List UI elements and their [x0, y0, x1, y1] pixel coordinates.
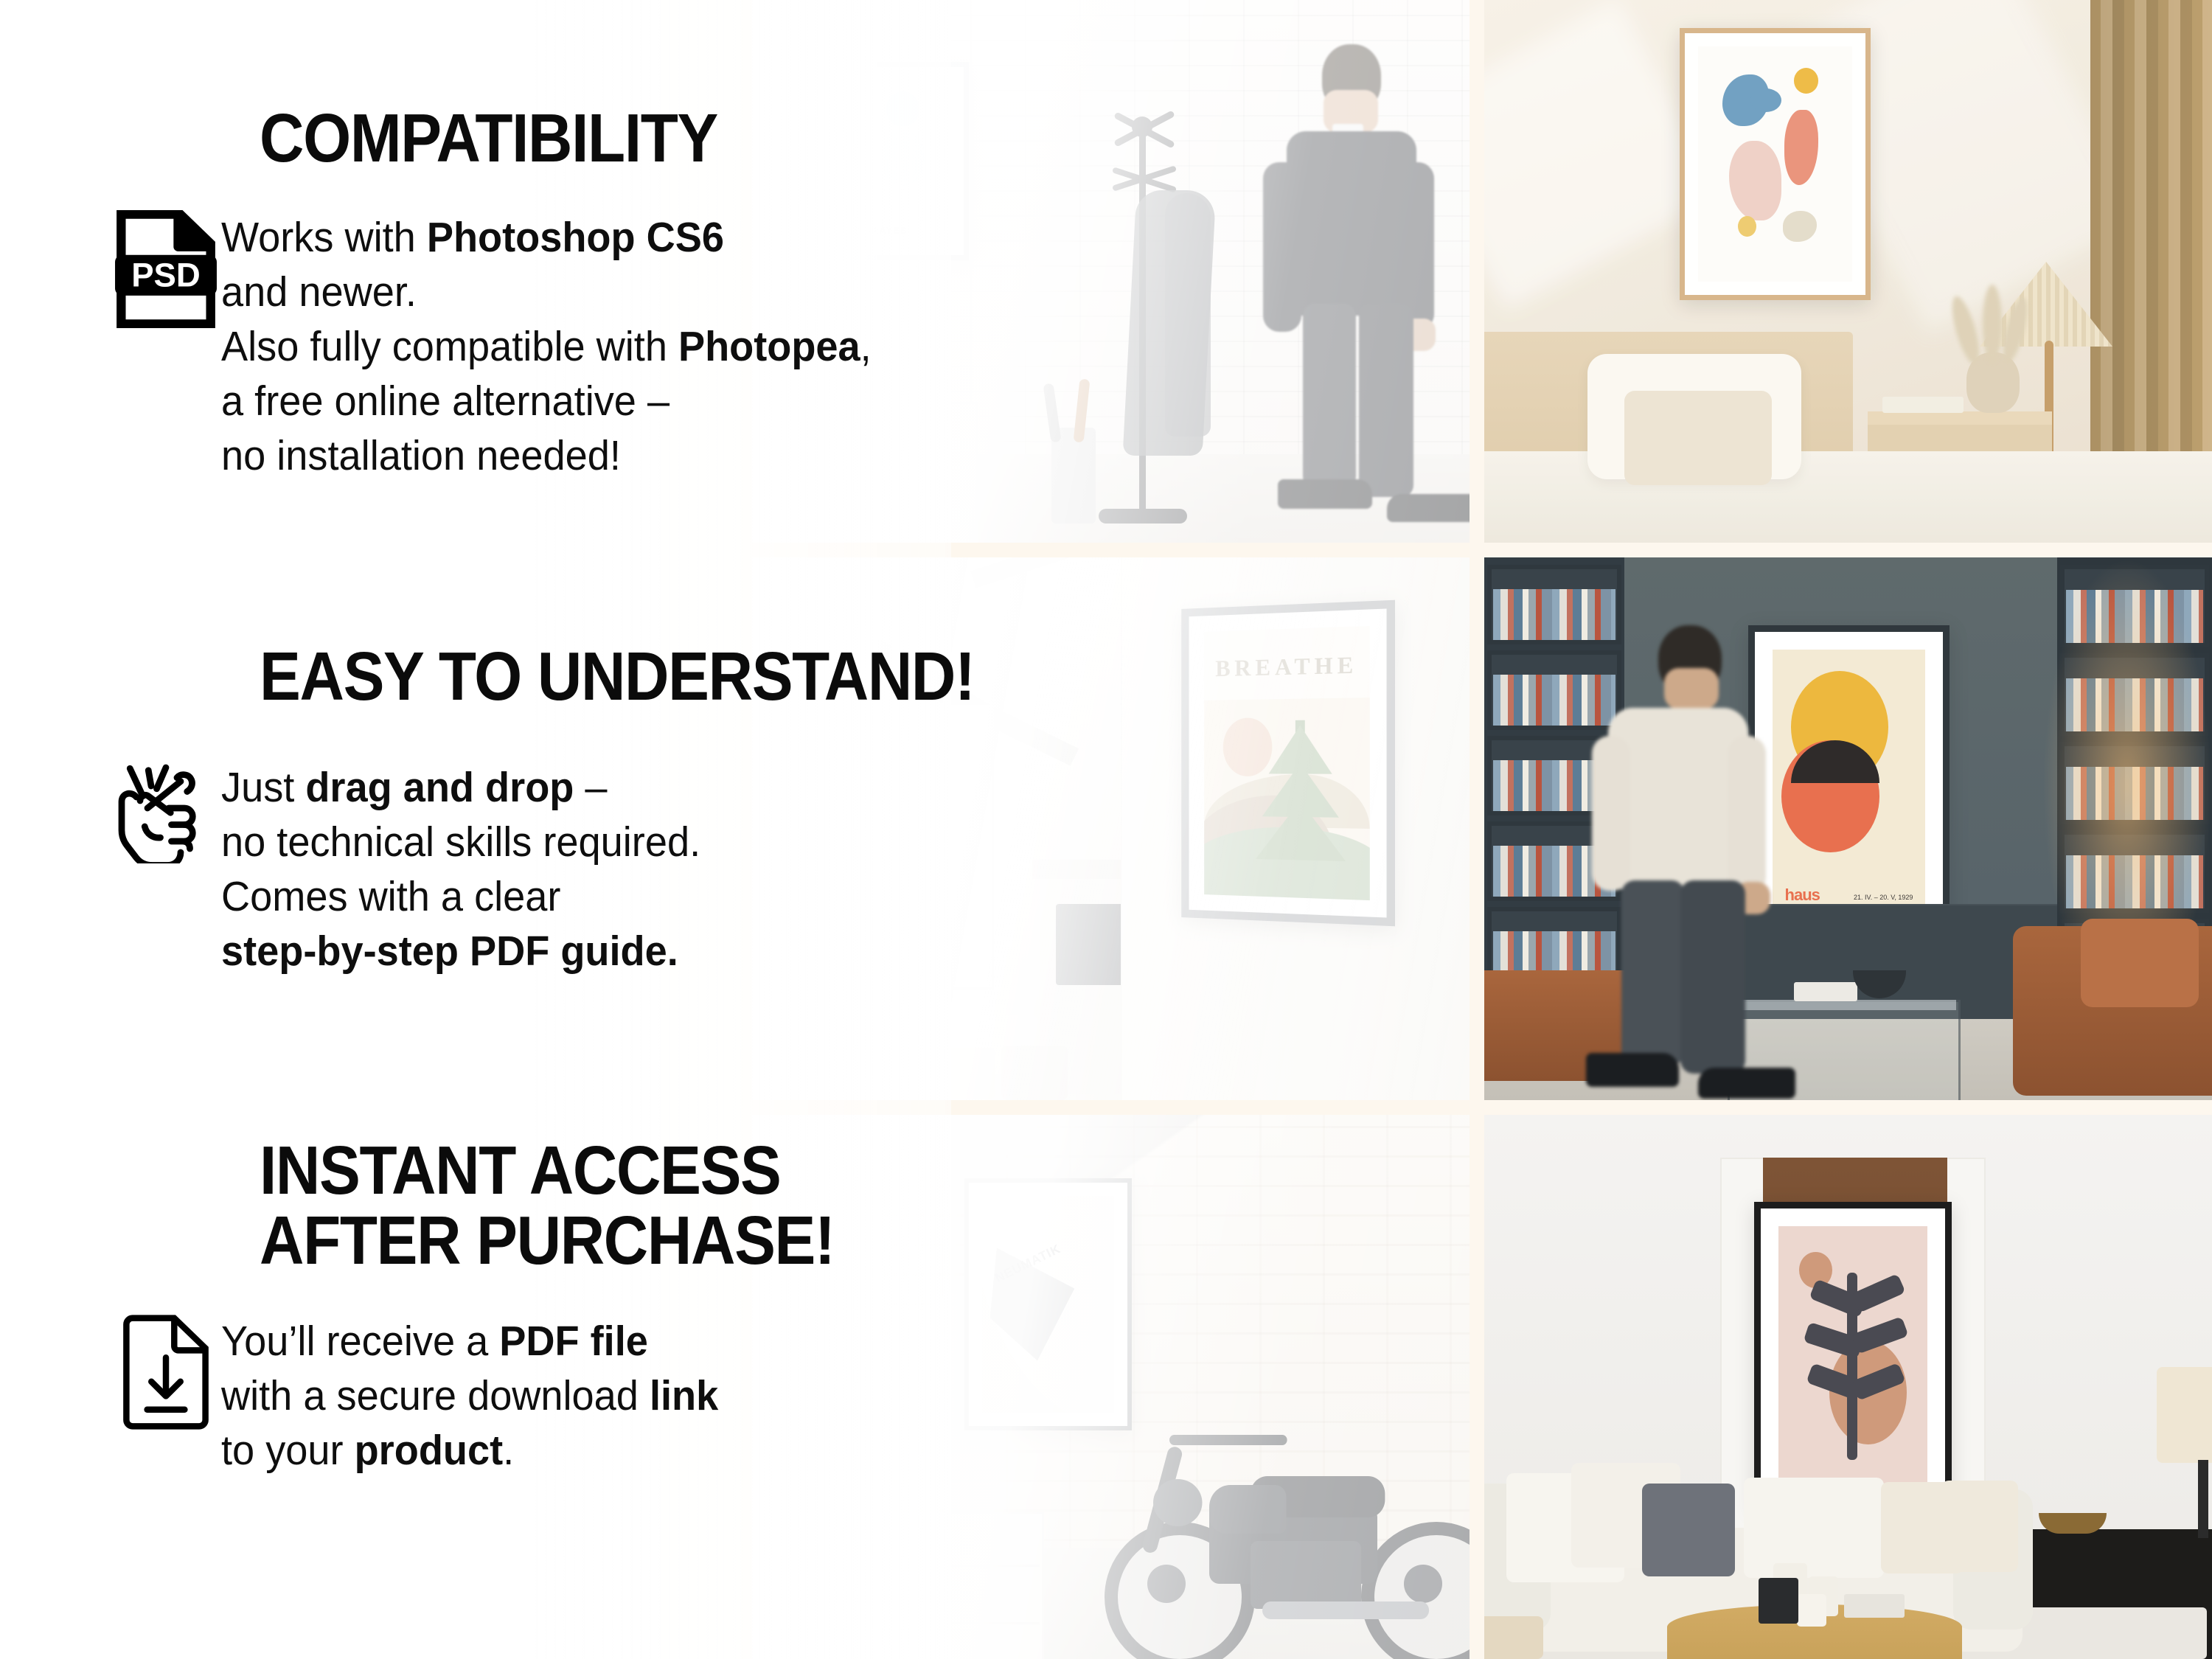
feature-heading-instant-line1: INSTANT ACCESS [260, 1135, 882, 1206]
poster-title-haus: haus [1785, 886, 1820, 905]
download-file-icon [111, 1314, 221, 1430]
mockup-bedroom [1484, 0, 2212, 543]
feature-board: EL-RAYES PARIS [0, 0, 2212, 1659]
person-walking [1587, 625, 1787, 1100]
mockup-library-lounge: haus 21. IV. – 20. V, 1929 [1484, 557, 2212, 1100]
poster-leaf [1754, 1202, 1952, 1510]
mockup-living-room-sofa [1484, 1115, 2212, 1659]
svg-text:PSD: PSD [131, 256, 201, 293]
snapping-fingers-icon [111, 760, 221, 863]
text-overlay-column: COMPATIBILITY PSD Works with Photoshop C… [0, 0, 951, 1659]
feature-compatibility: COMPATIBILITY PSD Works with Photoshop C… [0, 103, 951, 483]
feature-instant-access: INSTANT ACCESS AFTER PURCHASE! You’ll re… [0, 1135, 951, 1478]
psd-file-icon: PSD [111, 210, 221, 328]
feature-heading-compatibility: COMPATIBILITY [260, 103, 882, 173]
feature-body-compatibility: Works with Photoshop CS6 and newer. Also… [221, 210, 872, 483]
feature-body-instant: You’ll receive a PDF file with a secure … [221, 1314, 718, 1478]
feature-body-easy: Just drag and drop – no technical skills… [221, 760, 700, 978]
feature-heading-instant-line2: AFTER PURCHASE! [260, 1206, 882, 1276]
feature-easy-to-understand: EASY TO UNDERSTAND! [0, 641, 951, 978]
poster-subtitle-haus: 21. IV. – 20. V, 1929 [1854, 894, 1913, 901]
feature-heading-easy: EASY TO UNDERSTAND! [260, 641, 882, 712]
